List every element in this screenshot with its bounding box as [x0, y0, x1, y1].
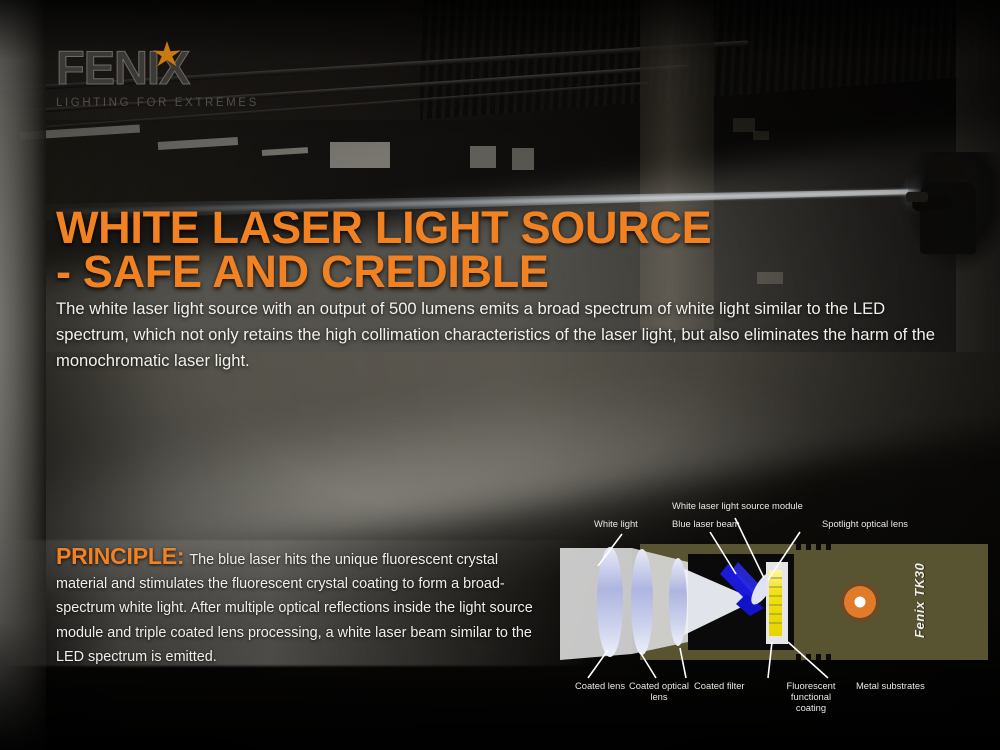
principle-block: PRINCIPLE:The blue laser hits the unique…: [56, 544, 536, 669]
wall-sign: [733, 118, 755, 132]
promo-image: FENIX LIGHTING FOR EXTREMES WHITE LASER …: [0, 0, 1000, 750]
label-coated-optical-lens: Coated optical lens: [628, 680, 690, 702]
label-coated-filter: Coated filter: [694, 680, 745, 691]
product-label: Fenix TK30: [912, 563, 927, 638]
coated-optical-lens: [631, 549, 653, 655]
fluorescent-functional-coating: [769, 570, 782, 636]
flashlight-diagram: White light Blue laser beam White laser …: [560, 492, 992, 712]
fenix-logo: FENIX LIGHTING FOR EXTREMES: [56, 44, 276, 106]
coated-lens: [597, 547, 623, 657]
held-flashlight: [906, 192, 928, 202]
switch-button: [855, 597, 866, 608]
label-white-laser-light-source-module: White laser light source module: [672, 500, 803, 511]
label-white-light: White light: [594, 518, 638, 529]
star-icon: [151, 40, 183, 72]
wall-sign: [753, 131, 769, 140]
lede-paragraph: The white laser light source with an out…: [56, 296, 946, 374]
page-title: WHITE LASER LIGHT SOURCE - SAFE AND CRED…: [56, 206, 956, 294]
wall-panel: [330, 142, 390, 168]
label-fluorescent-functional-coating: Fluorescent functional coating: [780, 680, 842, 713]
label-metal-substrates: Metal substrates: [856, 680, 925, 691]
principle-keyword: PRINCIPLE:: [56, 543, 184, 569]
coated-filter: [669, 558, 687, 646]
wall-panel: [512, 148, 534, 170]
brand-tagline: LIGHTING FOR EXTREMES: [56, 97, 276, 109]
wall-panel: [470, 146, 496, 168]
label-spotlight-optical-lens: Spotlight optical lens: [822, 518, 908, 529]
headline-line-2: - SAFE AND CREDIBLE: [56, 250, 956, 294]
label-blue-laser-beam: Blue laser beam: [672, 518, 740, 529]
